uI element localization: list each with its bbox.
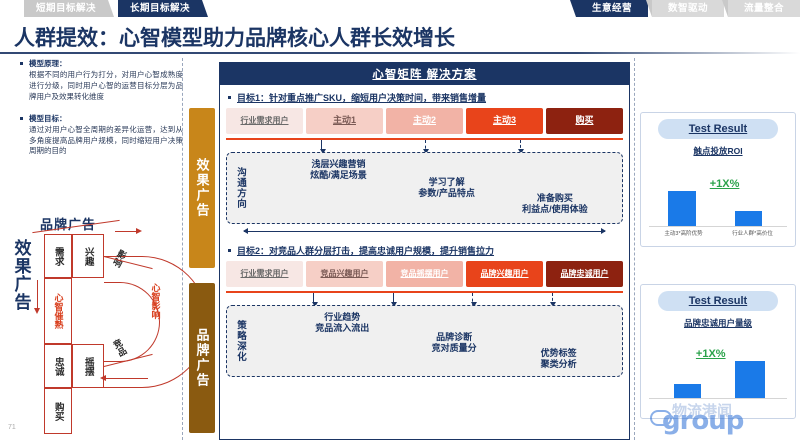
funnel-2-step-4[interactable]: 品牌兴趣用户 bbox=[466, 261, 543, 287]
p-grid: 需求 兴趣 心智催熟 忠诚 摇摆 购买 影响 心智影响 竞品 bbox=[44, 234, 172, 414]
note-line-1: 品牌诊断 bbox=[391, 332, 518, 343]
arrow-down-icon bbox=[393, 293, 394, 302]
cell-demand[interactable]: 需求 bbox=[44, 234, 72, 278]
title-divider bbox=[0, 52, 800, 54]
test-result-card-roi: Test Result 触点投放ROI +1X% 主动3*高阶优势 行业人群*高… bbox=[640, 112, 796, 247]
goal-1-text: 目标1：针对重点推广SKU，缩短用户决策时间，带来销售增量 bbox=[237, 91, 486, 104]
top-tabs-left: 短期目标解决 长期目标解决 bbox=[24, 0, 202, 17]
section-goal-1: 目标1：针对重点推广SKU，缩短用户决策时间，带来销售增量 行业需求用户 主动1… bbox=[220, 85, 629, 238]
bar-chart-loyalty: +1X% bbox=[649, 333, 787, 399]
funnel-1-arrows bbox=[226, 140, 623, 152]
note-line-1: 学习了解 bbox=[376, 177, 518, 188]
axis-label-effect-ad: 效果广告 bbox=[10, 240, 36, 312]
funnel-1-step-5[interactable]: 购买 bbox=[546, 108, 623, 134]
bullet-model-goal: 模型目标： 通过对用户心智全周期的差异化运营，达到从多角度提高品牌用户规模，同时… bbox=[20, 113, 183, 158]
funnel-2-step-5[interactable]: 品牌忠诚用户 bbox=[546, 261, 623, 287]
top-tabs-right: 生意经营 数智驱动 流量整合 bbox=[576, 0, 800, 17]
bullet-body: 根据不同的用户行为打分，对用户心智成熟度进行分级，同时用户心智的运营目标分层为品… bbox=[29, 70, 183, 103]
cell-loyalty[interactable]: 忠诚 bbox=[44, 344, 72, 388]
funnel-1-return-arrow-wrap bbox=[236, 224, 613, 238]
bar-2 bbox=[735, 211, 763, 228]
vertical-tab-brand-ad[interactable]: 品牌广告 bbox=[189, 283, 215, 433]
note-line-2: 聚类分析 bbox=[495, 359, 622, 370]
right-dashed-divider bbox=[634, 58, 635, 440]
effect-axis-arrow-icon bbox=[34, 308, 40, 314]
strategy-deepening-box: 策略深化 行业趋势 竞品流入流出 品牌诊断 竞对质量分 优势标签 聚类分析 bbox=[226, 305, 623, 377]
watermark-logo: 物流港闻 group bbox=[648, 398, 794, 442]
gain-annotation-2: +1X% bbox=[696, 348, 726, 360]
bar-1 bbox=[674, 384, 702, 399]
comm-direction-label: 沟通方向 bbox=[231, 153, 249, 223]
note-line-1: 浅层兴趣营销 bbox=[264, 159, 413, 170]
test-result-subtitle-1: 触点投放ROI bbox=[641, 145, 795, 157]
cell-mind-influence[interactable]: 心智影响 bbox=[144, 272, 166, 330]
funnel-1-step-2[interactable]: 主动1 bbox=[306, 108, 383, 134]
goal-2-text: 目标2：对竞品人群分层打击，提高忠诚用户规模，提升销售拉力 bbox=[237, 244, 494, 257]
funnel-1-step-3[interactable]: 主动2 bbox=[386, 108, 463, 134]
xtick-2: 行业人群*高价位 bbox=[718, 229, 787, 237]
bullet-heading: 模型原理： bbox=[29, 58, 183, 69]
effect-axis-line bbox=[37, 280, 38, 310]
funnel-2-step-3[interactable]: 竞品摇摆用户 bbox=[386, 261, 463, 287]
page-number: 71 bbox=[8, 424, 16, 431]
watermark-text: group bbox=[662, 406, 743, 436]
strategy-notes: 行业趋势 竞品流入流出 品牌诊断 竞对质量分 优势标签 聚类分析 bbox=[249, 306, 622, 376]
note-2-3: 优势标签 聚类分析 bbox=[495, 348, 622, 371]
bullet-body: 通过对用户心智全周期的差异化运营，达到从多角度提高品牌用户规模，同时缩短用户决策… bbox=[29, 125, 183, 158]
bidirectional-arrow-icon bbox=[244, 231, 605, 232]
tab-long-term-goal[interactable]: 长期目标解决 bbox=[118, 0, 202, 17]
funnel-2-arrows bbox=[226, 293, 623, 305]
funnel-2-step-1[interactable]: 行业需求用户 bbox=[226, 261, 303, 287]
arrow-down-icon bbox=[313, 293, 314, 302]
mind-model-p-diagram: 效果广告 品牌广告 需求 兴趣 心智催熟 忠诚 摇摆 购买 影响 心智影响 竞品 bbox=[8, 212, 183, 432]
arrow-down-icon bbox=[321, 140, 322, 149]
test-result-title-2: Test Result bbox=[658, 291, 778, 311]
vertical-tab-effect-ad[interactable]: 效果广告 bbox=[189, 108, 215, 268]
bullet-model-principle: 模型原理： 根据不同的用户行为打分，对用户心智成熟度进行分级，同时用户心智的运营… bbox=[20, 58, 183, 103]
bullet-heading: 模型目标： bbox=[29, 113, 183, 124]
xtick-1: 主动3*高阶优势 bbox=[649, 229, 718, 237]
bar-2 bbox=[735, 361, 765, 399]
note-line-1: 准备购买 bbox=[488, 193, 622, 204]
page-title: 人群提效：心智模型助力品牌核心人群长效增长 bbox=[14, 22, 455, 52]
note-line-1: 优势标签 bbox=[495, 348, 622, 359]
chart-axis-1 bbox=[649, 226, 787, 227]
bullet-dot-icon bbox=[228, 249, 231, 252]
test-result-title-1: Test Result bbox=[658, 119, 778, 139]
funnel-2: 行业需求用户 竞品兴趣用户 竞品摇摆用户 品牌兴趣用户 品牌忠诚用户 bbox=[220, 261, 629, 287]
bar-1 bbox=[668, 191, 696, 227]
p-return-arrow-icon bbox=[100, 375, 106, 381]
cell-interest[interactable]: 兴趣 bbox=[72, 234, 104, 278]
funnel-2-step-2[interactable]: 竞品兴趣用户 bbox=[306, 261, 383, 287]
goal-2-line: 目标2：对竞品人群分层打击，提高忠诚用户规模，提升销售拉力 bbox=[220, 238, 629, 261]
slide-canvas: 短期目标解决 长期目标解决 生意经营 数智驱动 流量整合 人群提效：心智模型助力… bbox=[0, 0, 800, 446]
p-return-arrow-line bbox=[102, 378, 148, 379]
tab-data-intelligence[interactable]: 数智驱动 bbox=[652, 0, 724, 17]
strategy-label: 策略深化 bbox=[231, 306, 249, 376]
funnel-1-step-4[interactable]: 主动3 bbox=[466, 108, 543, 134]
panel-header: 心智矩阵 解决方案 bbox=[220, 63, 629, 85]
chart-xlabels-1: 主动3*高阶优势 行业人群*高价位 bbox=[649, 229, 787, 237]
bar-chart-roi: +1X% bbox=[649, 161, 787, 227]
bullet-dot-icon bbox=[228, 96, 231, 99]
note-line-1: 行业趋势 bbox=[264, 312, 421, 323]
solution-panel: 心智矩阵 解决方案 目标1：针对重点推广SKU，缩短用户决策时间，带来销售增量 … bbox=[219, 62, 630, 440]
comm-direction-notes: 浅层兴趣营销 炫酷/满足场景 学习了解 参数/产品特点 准备购买 利益点/使用体… bbox=[249, 153, 622, 223]
brand-axis-line-2 bbox=[115, 231, 137, 232]
communication-direction-box: 沟通方向 浅层兴趣营销 炫酷/满足场景 学习了解 参数/产品特点 准备购买 利益… bbox=[226, 152, 623, 224]
cell-mind-ripen[interactable]: 心智催熟 bbox=[44, 278, 72, 344]
tab-traffic-integration[interactable]: 流量整合 bbox=[728, 0, 800, 17]
cell-purchase[interactable]: 购买 bbox=[44, 388, 72, 434]
funnel-1-step-1[interactable]: 行业需求用户 bbox=[226, 108, 303, 134]
gain-annotation-1: +1X% bbox=[710, 178, 740, 190]
funnel-1: 行业需求用户 主动1 主动2 主动3 购买 bbox=[220, 108, 629, 134]
tab-short-term-goal[interactable]: 短期目标解决 bbox=[24, 0, 108, 17]
tab-business-operation[interactable]: 生意经营 bbox=[576, 0, 648, 17]
note-line-2: 利益点/使用体验 bbox=[488, 204, 622, 215]
note-1-3: 准备购买 利益点/使用体验 bbox=[488, 193, 622, 216]
cell-waver[interactable]: 摇摆 bbox=[72, 344, 104, 388]
test-result-subtitle-2: 品牌忠诚用户量级 bbox=[641, 317, 795, 329]
section-goal-2: 目标2：对竞品人群分层打击，提高忠诚用户规模，提升销售拉力 行业需求用户 竞品兴… bbox=[220, 238, 629, 377]
goal-1-line: 目标1：针对重点推广SKU，缩短用户决策时间，带来销售增量 bbox=[220, 85, 629, 108]
